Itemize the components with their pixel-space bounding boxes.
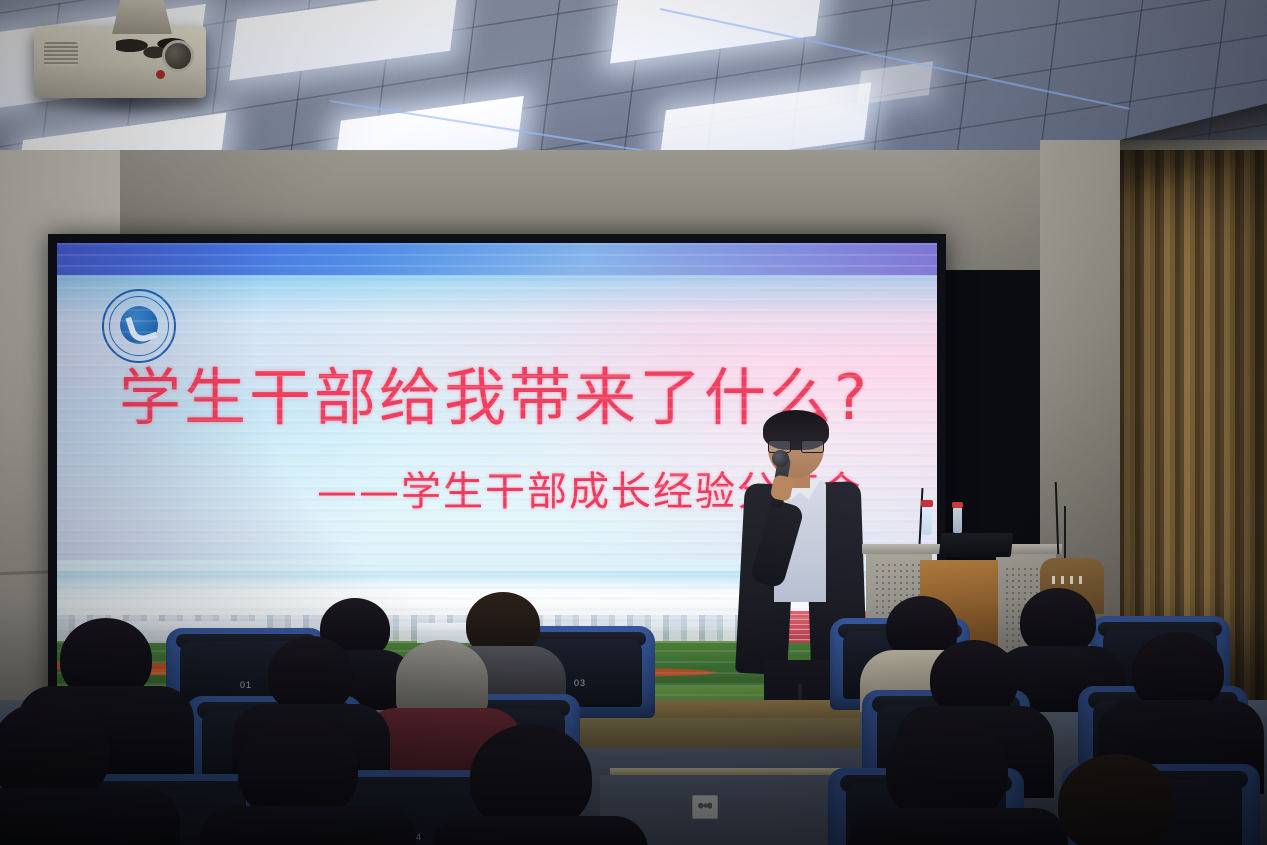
audience-shoulders <box>848 808 1068 845</box>
wall-power-outlet <box>692 795 718 819</box>
audience-head <box>1058 754 1174 845</box>
projector-mount <box>112 0 172 34</box>
seat-number: 01 <box>240 680 252 690</box>
audience-shoulders <box>0 788 180 845</box>
water-bottle <box>922 505 932 535</box>
audience-head-with-cap <box>396 640 488 718</box>
projector-indicator-light <box>156 70 165 79</box>
audience-shoulders <box>200 806 416 845</box>
audience-head <box>268 636 354 714</box>
glasses-icon <box>768 440 824 451</box>
stage-step-nosing <box>610 768 850 775</box>
seat-number: 03 <box>574 678 586 688</box>
lecture-hall-scene: 学生干部给我带来了什么? ——学生干部成长经验分享会 <box>0 0 1267 845</box>
water-bottle <box>953 507 962 533</box>
antenna <box>1064 506 1066 560</box>
audience-shoulders <box>432 816 648 845</box>
projector-lens-icon <box>162 40 194 72</box>
laptop <box>939 533 1014 557</box>
projector <box>34 26 206 98</box>
bottle-cap <box>952 502 963 508</box>
microphone-head-icon <box>772 450 789 467</box>
bottle-cap <box>921 500 933 507</box>
stage-front-edge <box>560 718 860 748</box>
projector-vent <box>44 42 78 66</box>
emblem-glyph <box>120 306 158 344</box>
